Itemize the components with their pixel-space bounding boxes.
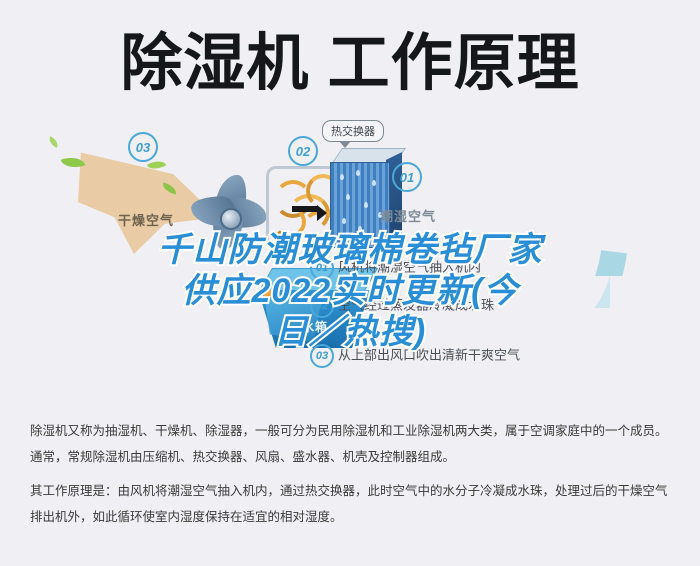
body-paragraph-1: 除湿机又称为抽湿机、干燥机、除湿器，一般可分为民用除湿机和工业除湿机两大类，属于…: [30, 418, 674, 470]
flow-arrow-icon: [292, 206, 318, 212]
page-title: 除湿机 工作原理: [0, 28, 700, 100]
step-badge-02: 02: [288, 136, 318, 166]
leaf-icon: [47, 136, 60, 148]
watermark-line-1: 千山防潮玻璃棉卷毡厂家: [0, 230, 700, 271]
condensation-drops-icon: [334, 168, 384, 238]
humid-air-label: 潮湿空气: [380, 206, 436, 225]
step-badge-01: 01: [392, 162, 422, 192]
fan-hub: [220, 208, 242, 230]
infographic-page: 除湿机 工作原理 干燥空气: [0, 0, 700, 566]
heat-exchanger-label: 热交换器: [331, 126, 375, 138]
step-badge-03: 03: [128, 132, 158, 162]
watermark-line-2: 供应2022实时更新(今: [0, 271, 700, 312]
watermark-overlay: 千山防潮玻璃棉卷毡厂家供应2022实时更新(今日／热搜): [0, 230, 700, 353]
dry-air-label: 干燥空气: [118, 210, 174, 229]
body-paragraph-2: 其工作原理是：由风机将潮湿空气抽入机内，通过热交换器，此时空气中的水分子冷凝成水…: [30, 478, 674, 530]
heat-exchanger-callout: 热交换器: [322, 120, 384, 142]
watermark-line-3: 日／热搜): [0, 312, 700, 353]
page-title-text: 除湿机 工作原理: [120, 29, 579, 98]
